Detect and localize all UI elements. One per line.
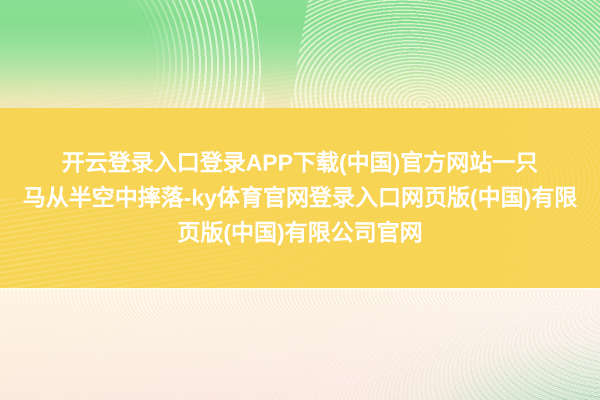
headline-line-2: 马从半空中摔落-ky体育官网登录入口网页版(中国)有限 [0,181,600,216]
promo-banner: 开云登录入口登录APP下载(中国)官方网站一只 马从半空中摔落-ky体育官网登录… [0,0,600,400]
banner-bottom-section [0,288,600,400]
headline-line-3: 页版(中国)有限公司官网 [0,216,600,251]
headline-line-1: 开云登录入口登录APP下载(中国)官方网站一只 [0,146,600,181]
banner-top-green-section [0,0,600,108]
banner-yellow-band: 开云登录入口登录APP下载(中国)官方网站一只 马从半空中摔落-ky体育官网登录… [0,108,600,288]
corner-moire-decoration-icon [330,288,600,400]
sweeping-strands-decoration-icon [0,34,600,108]
banner-headline: 开云登录入口登录APP下载(中国)官方网站一只 马从半空中摔落-ky体育官网登录… [0,146,600,251]
